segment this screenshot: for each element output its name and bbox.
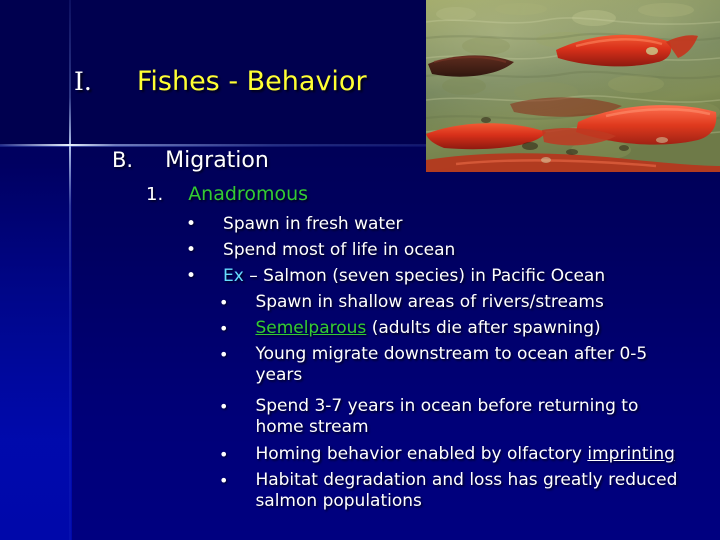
bullet-text: Young migrate downstream to ocean after … (255, 344, 685, 386)
salmon-photo-artwork (426, 0, 720, 172)
bullet-dot-icon: • (219, 292, 228, 313)
decorative-vertical-line-icon (69, 0, 71, 540)
bullet-text: Homing behavior enabled by olfactory imp… (255, 444, 685, 465)
bullet-text: Habitat degradation and loss has greatly… (255, 470, 685, 512)
bullet-text-rest: – Salmon (seven species) in Pacific Ocea… (244, 266, 605, 286)
outline-marker-1: 1. (146, 184, 163, 205)
bullet-text: Spend 3-7 years in ocean before returnin… (255, 396, 685, 438)
bullet-dot-icon: • (219, 444, 228, 465)
outline-item-anadromous: 1. Anadromous (146, 183, 308, 205)
outline-item-migration: B. Migration (112, 148, 269, 173)
slide-title: I. Fishes - Behavior (74, 66, 367, 97)
bullet-dot-icon: • (219, 318, 228, 339)
bullet-semelparous: • Semelparous (adults die after spawning… (219, 318, 685, 339)
bullet-text: Spend most of life in ocean (223, 240, 455, 261)
bullet-text: Ex – Salmon (seven species) in Pacific O… (223, 266, 605, 287)
bullet-spawn-fresh-water: • Spawn in fresh water (186, 214, 403, 235)
bullet-dot-icon: • (219, 344, 228, 365)
bullet-dot-icon: • (186, 214, 196, 235)
bullet-dot-icon: • (186, 266, 196, 287)
bullet-spawn-shallow-areas: • Spawn in shallow areas of rivers/strea… (219, 292, 685, 313)
bullet-habitat-degradation: • Habitat degradation and loss has great… (219, 470, 685, 512)
bullet-dot-icon: • (219, 396, 228, 417)
bullet-dot-icon: • (219, 470, 228, 491)
bullet-example-salmon: • Ex – Salmon (seven species) in Pacific… (186, 266, 605, 287)
bullet-text: Spawn in shallow areas of rivers/streams (255, 292, 685, 313)
bullet-spend-years-ocean: • Spend 3-7 years in ocean before return… (219, 396, 685, 438)
bullet-text: Spawn in fresh water (223, 214, 403, 235)
salmon-stream-photo (426, 0, 720, 172)
title-numeral: I. (74, 67, 92, 96)
bullet-homing-behavior: • Homing behavior enabled by olfactory i… (219, 444, 685, 465)
outline-label-anadromous: Anadromous (188, 183, 308, 205)
bullet-text-rest: (adults die after spawning) (366, 318, 600, 338)
bullet-text: Semelparous (adults die after spawning) (255, 318, 685, 339)
bullet-spend-life-ocean: • Spend most of life in ocean (186, 240, 455, 261)
term-ex: Ex (223, 266, 244, 286)
bullet-young-migrate-downstream: • Young migrate downstream to ocean afte… (219, 344, 685, 386)
outline-marker-b: B. (112, 148, 133, 172)
outline-label-migration: Migration (165, 148, 269, 173)
bullet-text-main: Homing behavior enabled by olfactory (255, 444, 587, 464)
page-title: Fishes - Behavior (137, 66, 367, 97)
term-imprinting: imprinting (587, 444, 675, 464)
presentation-slide: I. Fishes - Behavior B. Migration 1. Ana… (0, 0, 720, 540)
term-semelparous: Semelparous (255, 318, 366, 338)
bullet-dot-icon: • (186, 240, 196, 261)
